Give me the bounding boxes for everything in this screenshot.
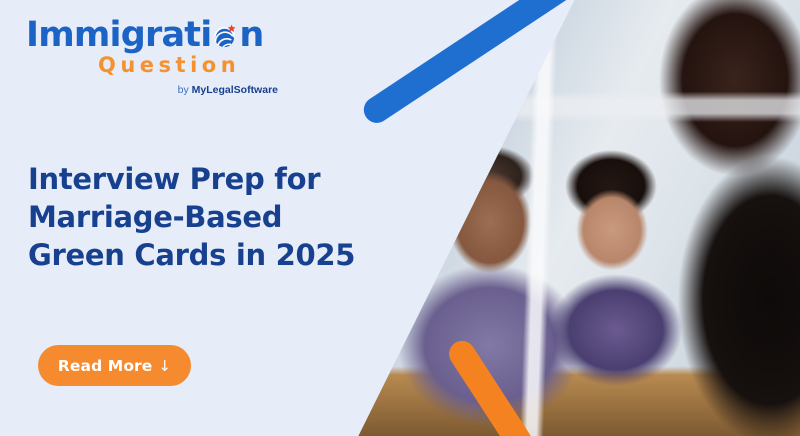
byline-lead: by bbox=[178, 84, 192, 96]
photo-window-frame bbox=[340, 0, 800, 436]
interview-photo bbox=[340, 0, 800, 436]
globe-icon bbox=[212, 23, 238, 49]
read-more-label: Read More bbox=[58, 357, 153, 375]
arrow-down-icon: ↓ bbox=[158, 357, 171, 375]
logo-wordmark: Immigrati n bbox=[26, 18, 276, 53]
page-title: Interview Prep for Marriage-Based Green … bbox=[28, 161, 368, 274]
logo-word-pre: Immigrati bbox=[26, 18, 211, 53]
logo-byline: by MyLegalSoftware bbox=[26, 85, 278, 96]
logo-word-post: n bbox=[239, 18, 263, 53]
byline-brand: MyLegalSoftware bbox=[192, 84, 278, 96]
brand-logo[interactable]: Immigrati n Question by MyLegalSoftware bbox=[26, 18, 276, 96]
logo-subword: Question bbox=[98, 55, 276, 76]
content-column: Immigrati n Question by MyLegalSoftware … bbox=[0, 0, 400, 436]
read-more-button[interactable]: Read More ↓ bbox=[38, 345, 191, 386]
promo-banner: Immigrati n Question by MyLegalSoftware … bbox=[0, 0, 800, 436]
